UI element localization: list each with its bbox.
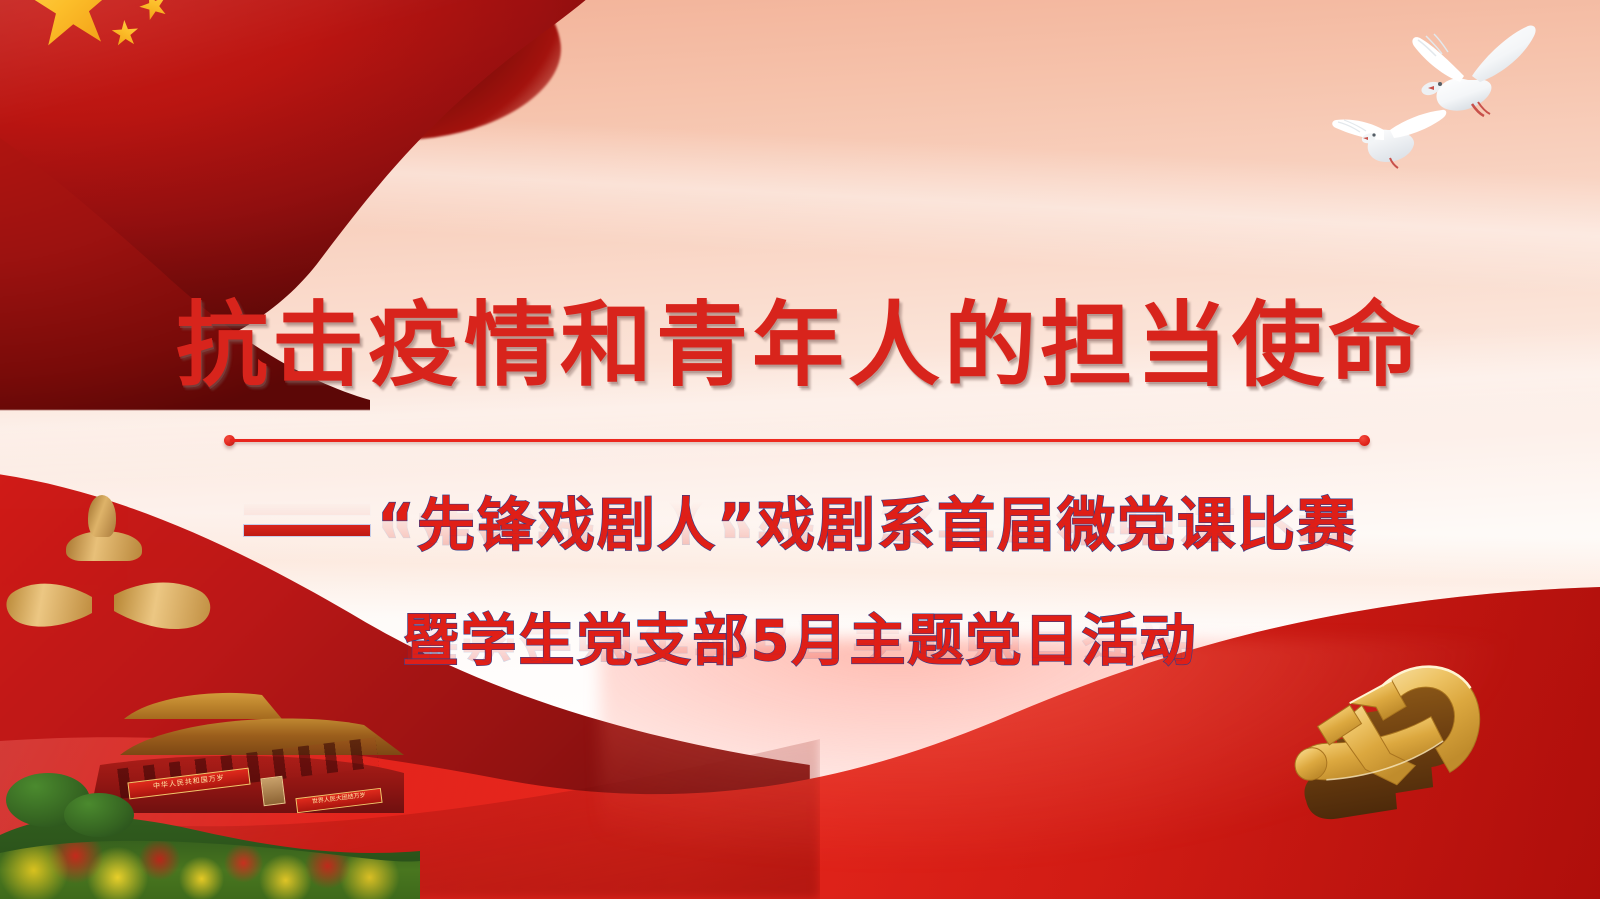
poster-thirdline-row: 暨学生党支部5月主题党日活动暨学生党支部5月主题党日活动 [0, 596, 1600, 677]
poster-subtitle: “先锋戏剧人”戏剧系首届微党课比赛“先锋戏剧人”戏剧系首届微党课比赛 [243, 478, 1357, 562]
title-divider [224, 438, 1370, 442]
em-dash-rule [243, 524, 371, 537]
em-dash-rule-reflection [243, 503, 371, 516]
tiananmen-gate: 中华人民共和国万岁 世界人民大团结万岁 [84, 689, 404, 817]
peace-dove-icon-secondary [1330, 92, 1450, 176]
peace-dove-icon [1372, 18, 1542, 138]
poster-thirdline-text: 暨学生党支部5月主题党日活动 [403, 609, 1198, 674]
mao-portrait [260, 776, 285, 806]
poster-thirdline: 暨学生党支部5月主题党日活动暨学生党支部5月主题党日活动 [403, 596, 1198, 677]
poster-subtitle-row: “先锋戏剧人”戏剧系首届微党课比赛“先锋戏剧人”戏剧系首届微党课比赛 [0, 478, 1600, 562]
gate-upper-roof [102, 689, 282, 719]
poster-title: 抗击疫情和青年人的担当使命 [0, 296, 1600, 395]
poster-subtitle-text: “先锋戏剧人”戏剧系首届微党课比赛 [377, 491, 1357, 559]
poster-canvas: 中华人民共和国万岁 世界人民大团结万岁 [0, 0, 1600, 899]
divider-line [230, 439, 1364, 442]
bush-2 [64, 793, 134, 837]
divider-dot-right [1359, 435, 1370, 446]
